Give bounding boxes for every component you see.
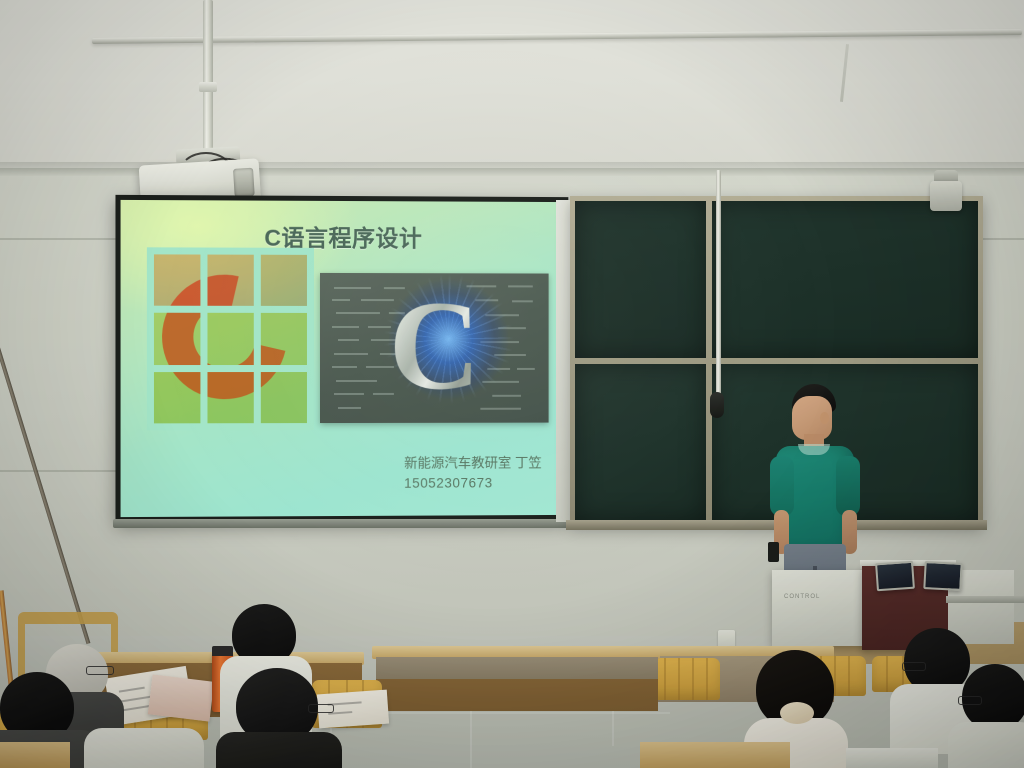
eyeglasses-icon <box>902 662 926 671</box>
podium-label: CONTROL <box>784 594 820 600</box>
person-torso <box>948 722 1024 768</box>
presenter-sleeve-left <box>770 456 794 516</box>
slide-title: C语言程序设计 <box>121 218 564 254</box>
blackboard-panel <box>575 364 706 521</box>
eyeglasses-icon <box>958 696 982 705</box>
logo-tile <box>154 313 200 365</box>
person-torso <box>84 728 204 768</box>
presenter-ear <box>820 412 829 424</box>
projector-mount-pole <box>203 0 213 152</box>
desk-top <box>846 748 938 768</box>
screen-bottom-rail <box>113 519 575 528</box>
podium-laptop-screen <box>875 561 915 592</box>
floor-tile-seam <box>340 712 670 714</box>
logo-tiles <box>154 254 307 423</box>
handout-papers <box>148 674 214 721</box>
eyeglasses-icon <box>86 666 114 675</box>
desk-top <box>640 742 790 768</box>
podium-laptop-screen <box>923 561 962 591</box>
presenter-sleeve-right <box>836 456 860 516</box>
upper-wall <box>0 0 1024 172</box>
logo-tile <box>154 254 200 306</box>
logo-tile <box>207 313 253 365</box>
logo-tile <box>261 372 307 423</box>
c-tile-logo <box>154 254 307 423</box>
wall-seam-left <box>0 470 120 472</box>
eyeglasses-icon <box>308 704 334 713</box>
slide-footer-line1: 新能源汽车教研室 丁笠 <box>404 453 542 474</box>
c-letter-artwork: C <box>320 273 549 423</box>
c-letter-glyph: C <box>389 282 481 410</box>
classroom-photo-scene: C语言程序设计 <box>0 0 1024 768</box>
blackboard-column-left <box>575 201 706 521</box>
logo-tile <box>207 372 253 424</box>
hanging-microphone-rod <box>716 170 721 395</box>
podium-side-rail <box>946 596 1024 603</box>
wall-surveillance-camera <box>930 181 962 211</box>
desk-top <box>0 742 70 768</box>
logo-tile <box>207 255 253 307</box>
podium-left-cabinet <box>772 570 868 646</box>
projector-pole-joint <box>199 82 217 92</box>
presenter-handheld-device <box>768 542 779 562</box>
desk-upper-panel <box>376 657 658 679</box>
hair-scrunchie <box>780 702 814 724</box>
logo-tile <box>154 372 200 424</box>
thermos-cap <box>212 646 233 656</box>
blackboard-panel <box>575 201 706 358</box>
person-torso <box>216 732 342 768</box>
hanging-microphone <box>710 392 724 418</box>
blackboard-left-edge-panel <box>556 200 570 522</box>
blackboard-panel <box>712 201 978 358</box>
slide-footer-line2: 15052307673 <box>404 473 542 494</box>
slide-footer: 新能源汽车教研室 丁笠 15052307673 <box>404 453 542 494</box>
projection-screen: C语言程序设计 <box>115 195 568 522</box>
logo-tile <box>261 255 307 307</box>
logo-tile <box>261 313 307 364</box>
presentation-slide: C语言程序设计 <box>121 200 564 517</box>
